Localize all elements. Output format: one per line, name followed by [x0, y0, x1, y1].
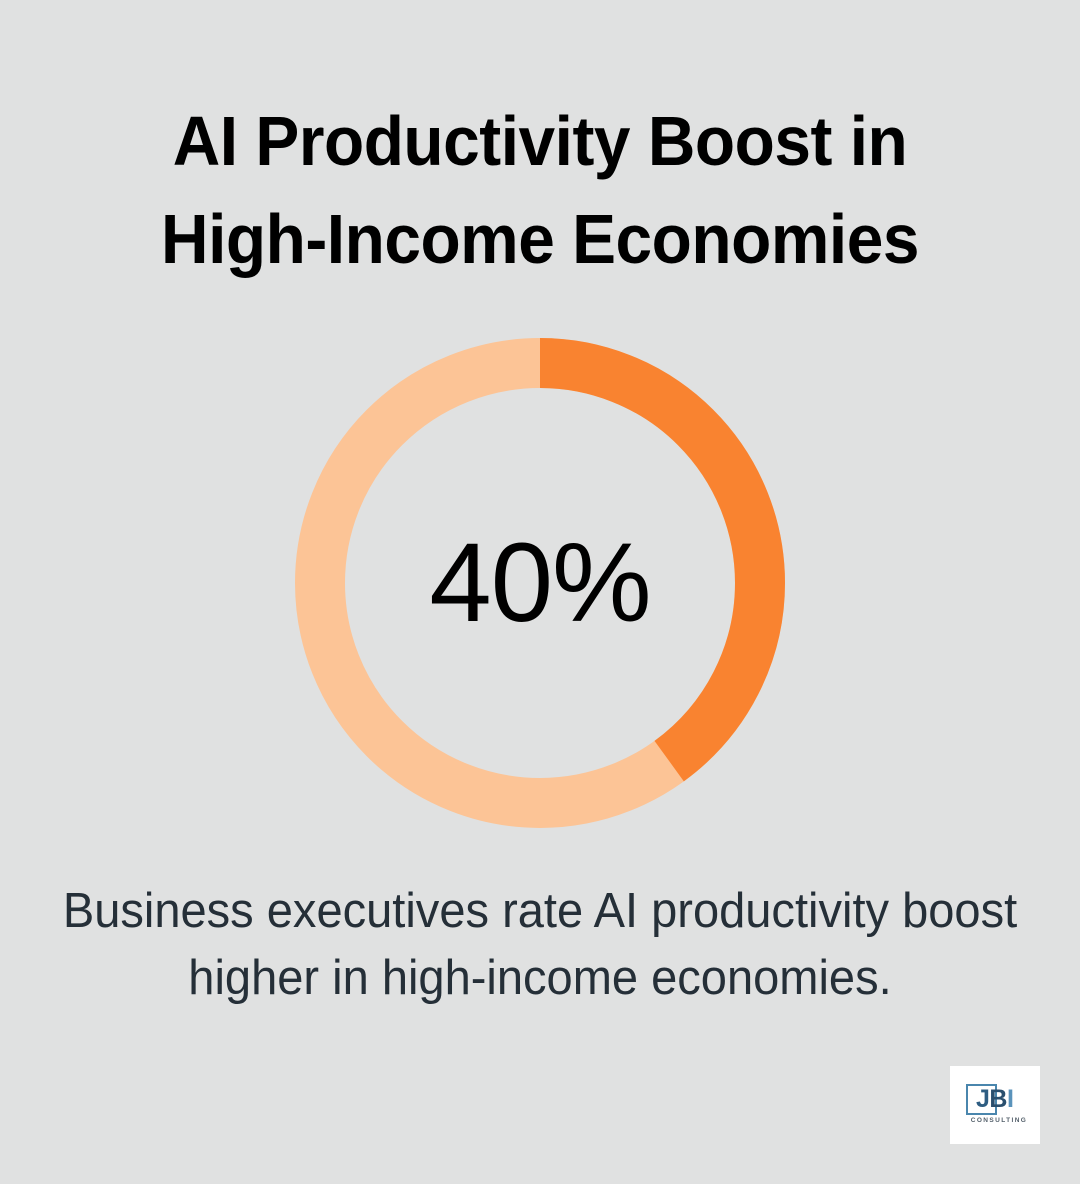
page-title: AI Productivity Boost in High-Income Eco… — [0, 92, 1080, 288]
donut-chart: 40% — [295, 338, 785, 828]
caption: Business executives rate AI productivity… — [40, 878, 1040, 1012]
logo-card: JBI CONSULTING — [950, 1066, 1040, 1144]
jbi-consulting-logo: JBI CONSULTING — [960, 1082, 1030, 1128]
logo-letter-i: I — [1007, 1084, 1013, 1115]
logo-letter-j: J — [976, 1084, 989, 1115]
donut-chart-svg — [295, 338, 785, 828]
page-title-line-1: AI Productivity Boost in — [32, 92, 1047, 190]
logo-letter-b: B — [989, 1084, 1007, 1115]
caption-line-2: higher in high-income economies. — [60, 945, 1020, 1012]
page-title-line-2: High-Income Economies — [32, 190, 1047, 288]
infographic-canvas: AI Productivity Boost in High-Income Eco… — [0, 0, 1080, 1184]
caption-line-1: Business executives rate AI productivity… — [60, 878, 1020, 945]
logo-tagline: CONSULTING — [968, 1117, 1030, 1124]
logo-wordmark: JBI — [976, 1084, 1030, 1115]
